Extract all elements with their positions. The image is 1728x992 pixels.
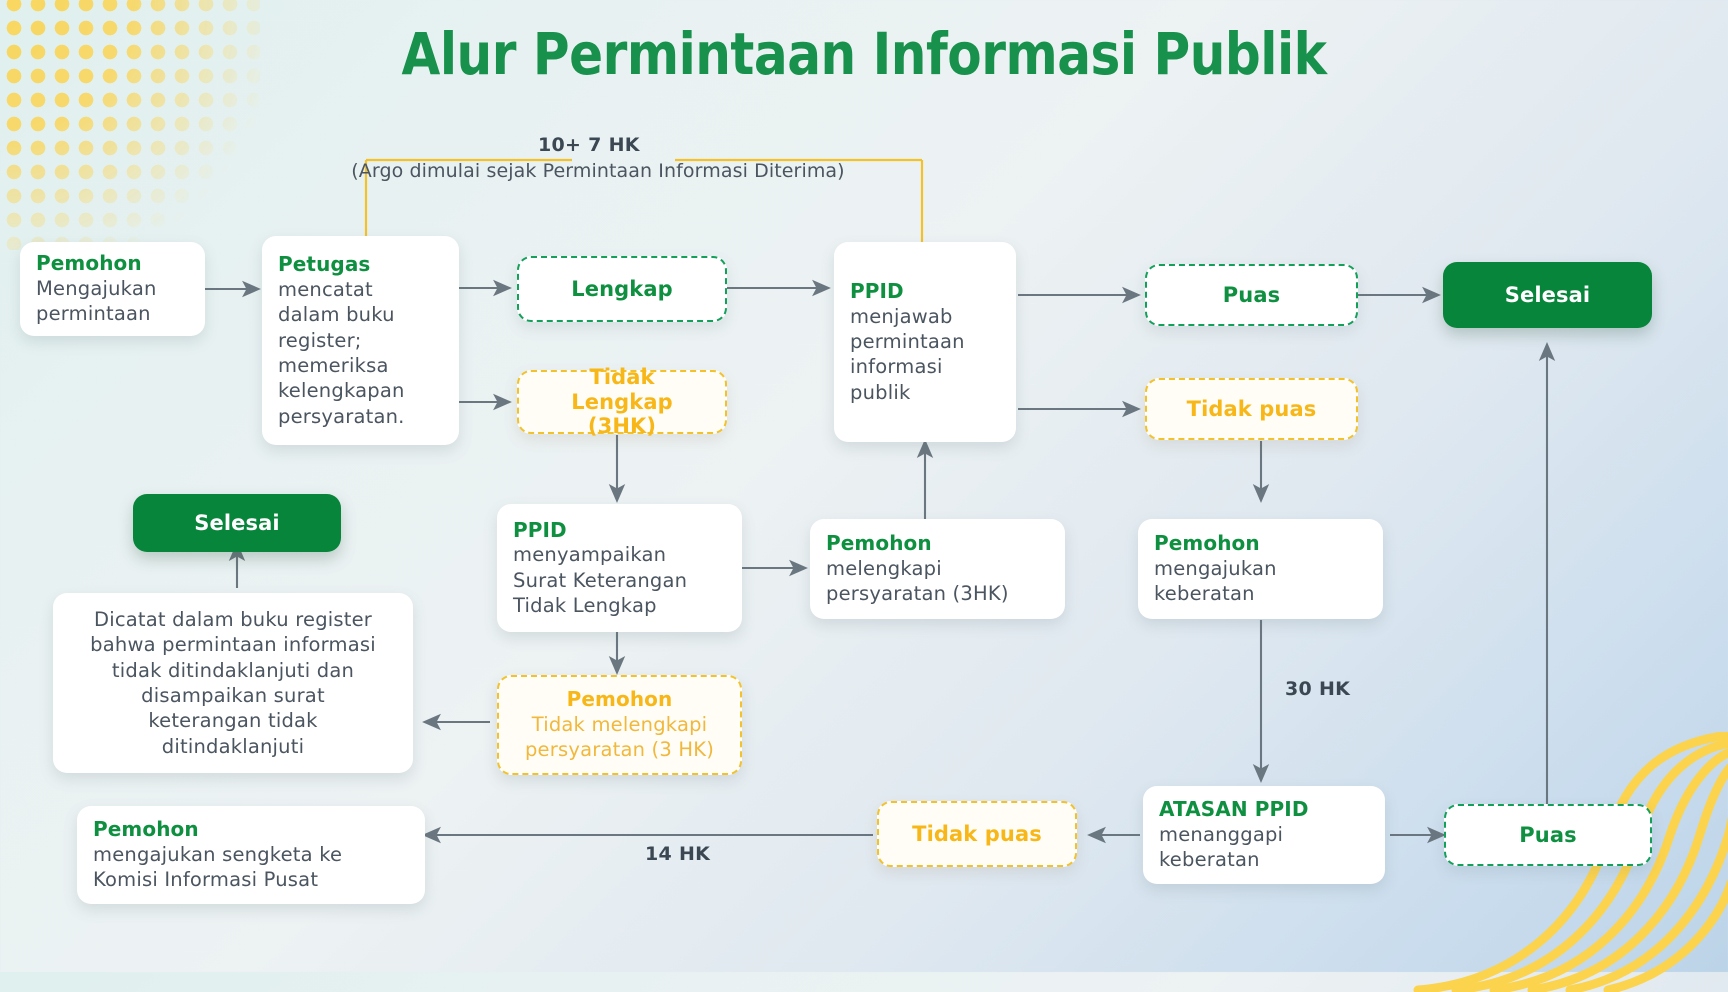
node-tidak-puas-atas[interactable]: Tidak puas — [1145, 378, 1358, 440]
node-body: melengkapi persyaratan (3HK) — [826, 556, 1049, 607]
bracket-note: (Argo dimulai sejak Permintaan Informasi… — [348, 160, 848, 182]
page-title: Alur Permintaan Informasi Publik — [35, 20, 1694, 88]
node-body: menjawab permintaan informasi publik — [850, 304, 1000, 405]
node-lengkap[interactable]: Lengkap — [517, 256, 727, 322]
node-body: menyampaikan Surat Keterangan Tidak Leng… — [513, 542, 726, 618]
node-pemohon-mengajukan[interactable]: Pemohon Mengajukan permintaan — [20, 242, 205, 336]
node-puas-bawah[interactable]: Puas — [1444, 804, 1652, 866]
node-heading: Pemohon — [826, 531, 1049, 556]
node-heading: Puas — [1223, 282, 1280, 308]
node-body: menanggapi keberatan — [1159, 822, 1369, 873]
node-pemohon-melengkapi[interactable]: Pemohon melengkapi persyaratan (3HK) — [810, 519, 1065, 619]
node-heading: Tidak Lengkap (3HK) — [535, 365, 709, 439]
node-heading: Tidak puas — [1187, 396, 1317, 422]
node-puas-atas[interactable]: Puas — [1145, 264, 1358, 326]
node-ppid-menyampaikan[interactable]: PPID menyampaikan Surat Keterangan Tidak… — [497, 504, 742, 632]
node-body: Tidak melengkapi persyaratan (3 HK) — [525, 712, 714, 763]
node-heading: Lengkap — [571, 276, 672, 302]
node-body: Dicatat dalam buku register bahwa permin… — [90, 607, 376, 759]
node-heading: PPID — [850, 279, 1000, 304]
node-atasan-ppid[interactable]: ATASAN PPID menanggapi keberatan — [1143, 786, 1385, 884]
node-heading: Pemohon — [93, 817, 409, 842]
node-heading: PPID — [513, 518, 726, 543]
node-tidak-lengkap[interactable]: Tidak Lengkap (3HK) — [517, 370, 727, 434]
node-selesai-kanan[interactable]: Selesai — [1443, 262, 1652, 328]
node-dicatat-register[interactable]: Dicatat dalam buku register bahwa permin… — [53, 593, 413, 773]
edge-label-30hk: 30 HK — [1285, 678, 1350, 700]
node-pemohon-keberatan[interactable]: Pemohon mengajukan keberatan — [1138, 519, 1383, 619]
node-heading: Selesai — [194, 510, 279, 536]
node-heading: Petugas — [278, 252, 443, 277]
edge-label-14hk: 14 HK — [645, 843, 710, 865]
node-body: Mengajukan permintaan — [36, 276, 189, 327]
node-heading: Selesai — [1505, 282, 1590, 308]
node-heading: Pemohon — [567, 687, 673, 712]
node-petugas-mencatat[interactable]: Petugas mencatat dalam buku register; me… — [262, 236, 459, 445]
node-body: mencatat dalam buku register; memeriksa … — [278, 277, 443, 429]
node-body: mengajukan sengketa ke Komisi Informasi … — [93, 842, 409, 893]
node-pemohon-tidak-melengkapi[interactable]: Pemohon Tidak melengkapi persyaratan (3 … — [497, 675, 742, 775]
node-heading: Pemohon — [36, 251, 189, 276]
bracket-duration-label: 10+ 7 HK — [530, 134, 648, 156]
node-selesai-kiri[interactable]: Selesai — [133, 494, 341, 552]
node-heading: ATASAN PPID — [1159, 797, 1369, 822]
node-heading: Puas — [1519, 822, 1576, 848]
node-tidak-puas-bawah[interactable]: Tidak puas — [877, 801, 1077, 867]
node-heading: Tidak puas — [912, 821, 1042, 847]
diagram-canvas: Alur Permintaan Informasi Publik — [0, 0, 1728, 972]
node-body: mengajukan keberatan — [1154, 556, 1367, 607]
node-ppid-menjawab[interactable]: PPID menjawab permintaan informasi publi… — [834, 242, 1016, 442]
node-heading: Pemohon — [1154, 531, 1367, 556]
node-pemohon-sengketa[interactable]: Pemohon mengajukan sengketa ke Komisi In… — [77, 806, 425, 904]
